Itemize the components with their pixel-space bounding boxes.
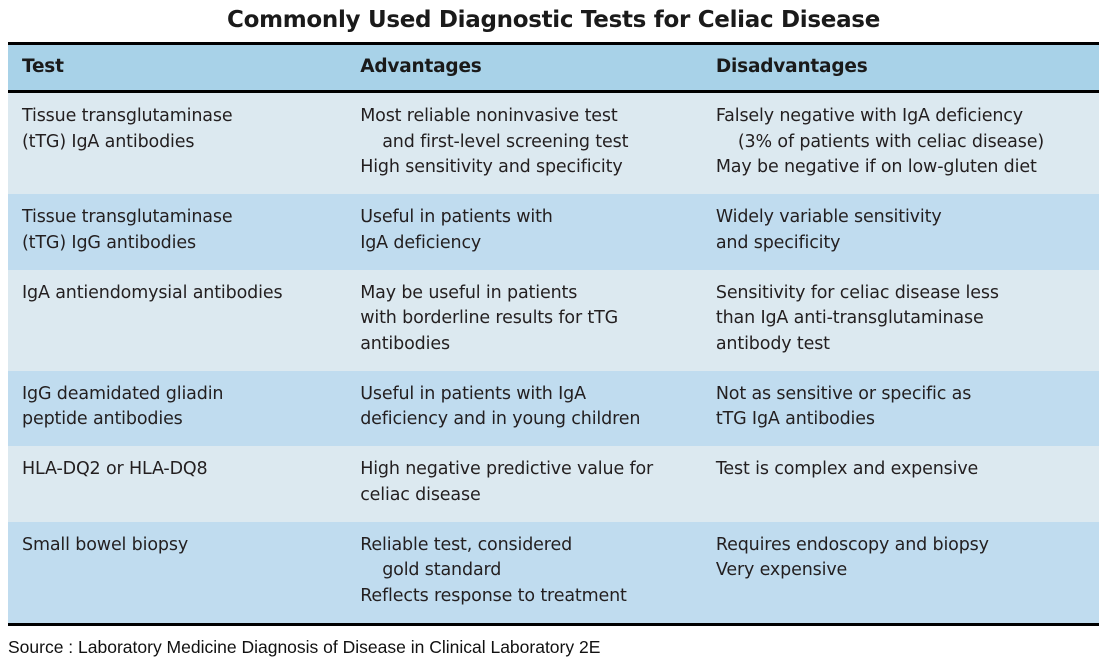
cell-text: Sensitivity for celiac disease lessthan … bbox=[716, 281, 1087, 358]
cell-line: Reliable test, considered bbox=[360, 533, 690, 559]
cell-text: HLA-DQ2 or HLA-DQ8 bbox=[22, 457, 334, 483]
cell-line: Widely variable sensitivity bbox=[716, 205, 1087, 231]
cell-disadvantages: Widely variable sensitivityand specifici… bbox=[702, 194, 1099, 269]
cell-line: (tTG) IgG antibodies bbox=[22, 231, 334, 257]
cell-line: Very expensive bbox=[716, 558, 1087, 584]
cell-line: Useful in patients with bbox=[360, 205, 690, 231]
cell-line: IgG deamidated gliadin bbox=[22, 382, 334, 408]
source-citation: Source : Laboratory Medicine Diagnosis o… bbox=[0, 626, 1107, 658]
cell-line: Most reliable noninvasive test bbox=[360, 104, 690, 130]
cell-advantages: Useful in patients with IgAdeficiency an… bbox=[346, 371, 702, 446]
cell-line: (3% of patients with celiac disease) bbox=[716, 130, 1087, 156]
cell-text: Reliable test, consideredgold standardRe… bbox=[360, 533, 690, 610]
cell-text: Not as sensitive or specific astTG IgA a… bbox=[716, 382, 1087, 433]
cell-advantages: Most reliable noninvasive testand first-… bbox=[346, 92, 702, 195]
cell-line: Tissue transglutaminase bbox=[22, 104, 334, 130]
cell-text: Tissue transglutaminase(tTG) IgG antibod… bbox=[22, 205, 334, 256]
cell-disadvantages: Falsely negative with IgA deficiency(3% … bbox=[702, 92, 1099, 195]
cell-test: Tissue transglutaminase(tTG) IgA antibod… bbox=[8, 92, 346, 195]
cell-line: gold standard bbox=[360, 558, 690, 584]
cell-line: Reflects response to treatment bbox=[360, 584, 690, 610]
cell-text: Tissue transglutaminase(tTG) IgA antibod… bbox=[22, 104, 334, 155]
cell-text: Most reliable noninvasive testand first-… bbox=[360, 104, 690, 181]
table-row: Tissue transglutaminase(tTG) IgA antibod… bbox=[8, 92, 1099, 195]
cell-line: HLA-DQ2 or HLA-DQ8 bbox=[22, 457, 334, 483]
column-header-test: Test bbox=[8, 45, 346, 92]
cell-text: May be useful in patientswith borderline… bbox=[360, 281, 690, 358]
cell-line: Test is complex and expensive bbox=[716, 457, 1087, 483]
cell-advantages: Useful in patients withIgA deficiency bbox=[346, 194, 702, 269]
column-header-disadvantages: Disadvantages bbox=[702, 45, 1099, 92]
cell-text: High negative predictive value forceliac… bbox=[360, 457, 690, 508]
cell-test: Tissue transglutaminase(tTG) IgG antibod… bbox=[8, 194, 346, 269]
cell-line: peptide antibodies bbox=[22, 407, 334, 433]
cell-line: antibody test bbox=[716, 332, 1087, 358]
table-row: HLA-DQ2 or HLA-DQ8High negative predicti… bbox=[8, 446, 1099, 521]
cell-line: Not as sensitive or specific as bbox=[716, 382, 1087, 408]
cell-test: IgA antiendomysial antibodies bbox=[8, 270, 346, 371]
cell-text: IgG deamidated gliadinpeptide antibodies bbox=[22, 382, 334, 433]
cell-text: IgA antiendomysial antibodies bbox=[22, 281, 334, 307]
cell-disadvantages: Not as sensitive or specific astTG IgA a… bbox=[702, 371, 1099, 446]
table-row: Small bowel biopsyReliable test, conside… bbox=[8, 522, 1099, 623]
cell-line: High negative predictive value for bbox=[360, 457, 690, 483]
cell-advantages: May be useful in patientswith borderline… bbox=[346, 270, 702, 371]
cell-line: antibodies bbox=[360, 332, 690, 358]
cell-text: Small bowel biopsy bbox=[22, 533, 334, 559]
cell-advantages: High negative predictive value forceliac… bbox=[346, 446, 702, 521]
cell-text: Test is complex and expensive bbox=[716, 457, 1087, 483]
diagnostic-tests-table-container: Test Advantages Disadvantages Tissue tra… bbox=[8, 42, 1099, 626]
cell-line: May be useful in patients bbox=[360, 281, 690, 307]
cell-text: Falsely negative with IgA deficiency(3% … bbox=[716, 104, 1087, 181]
cell-line: and specificity bbox=[716, 231, 1087, 257]
cell-text: Widely variable sensitivityand specifici… bbox=[716, 205, 1087, 256]
cell-line: IgA deficiency bbox=[360, 231, 690, 257]
cell-line: May be negative if on low-gluten diet bbox=[716, 155, 1087, 181]
diagnostic-tests-table: Test Advantages Disadvantages Tissue tra… bbox=[8, 45, 1099, 623]
cell-line: than IgA anti-transglutaminase bbox=[716, 306, 1087, 332]
table-row: IgG deamidated gliadinpeptide antibodies… bbox=[8, 371, 1099, 446]
cell-line: with borderline results for tTG bbox=[360, 306, 690, 332]
cell-line: Small bowel biopsy bbox=[22, 533, 334, 559]
cell-text: Useful in patients withIgA deficiency bbox=[360, 205, 690, 256]
table-body: Tissue transglutaminase(tTG) IgA antibod… bbox=[8, 92, 1099, 623]
cell-advantages: Reliable test, consideredgold standardRe… bbox=[346, 522, 702, 623]
cell-disadvantages: Requires endoscopy and biopsyVery expens… bbox=[702, 522, 1099, 623]
column-header-advantages: Advantages bbox=[346, 45, 702, 92]
cell-line: Useful in patients with IgA bbox=[360, 382, 690, 408]
cell-line: Sensitivity for celiac disease less bbox=[716, 281, 1087, 307]
table-header-row: Test Advantages Disadvantages bbox=[8, 45, 1099, 92]
cell-line: and first-level screening test bbox=[360, 130, 690, 156]
cell-line: High sensitivity and specificity bbox=[360, 155, 690, 181]
cell-test: IgG deamidated gliadinpeptide antibodies bbox=[8, 371, 346, 446]
page-title: Commonly Used Diagnostic Tests for Celia… bbox=[8, 0, 1099, 42]
cell-line: IgA antiendomysial antibodies bbox=[22, 281, 334, 307]
cell-line: deficiency and in young children bbox=[360, 407, 690, 433]
cell-line: (tTG) IgA antibodies bbox=[22, 130, 334, 156]
cell-disadvantages: Sensitivity for celiac disease lessthan … bbox=[702, 270, 1099, 371]
cell-test: Small bowel biopsy bbox=[8, 522, 346, 623]
cell-line: Requires endoscopy and biopsy bbox=[716, 533, 1087, 559]
table-page: Commonly Used Diagnostic Tests for Celia… bbox=[0, 0, 1107, 665]
cell-line: Falsely negative with IgA deficiency bbox=[716, 104, 1087, 130]
table-row: IgA antiendomysial antibodiesMay be usef… bbox=[8, 270, 1099, 371]
cell-text: Useful in patients with IgAdeficiency an… bbox=[360, 382, 690, 433]
cell-line: tTG IgA antibodies bbox=[716, 407, 1087, 433]
cell-line: celiac disease bbox=[360, 483, 690, 509]
table-row: Tissue transglutaminase(tTG) IgG antibod… bbox=[8, 194, 1099, 269]
cell-test: HLA-DQ2 or HLA-DQ8 bbox=[8, 446, 346, 521]
cell-text: Requires endoscopy and biopsyVery expens… bbox=[716, 533, 1087, 584]
table-header: Test Advantages Disadvantages bbox=[8, 45, 1099, 92]
cell-line: Tissue transglutaminase bbox=[22, 205, 334, 231]
cell-disadvantages: Test is complex and expensive bbox=[702, 446, 1099, 521]
